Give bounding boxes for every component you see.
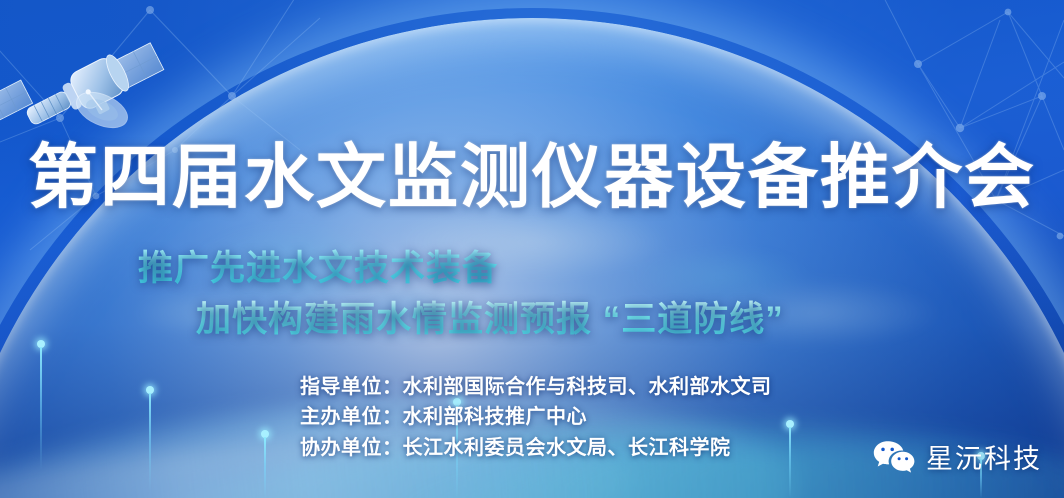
data-beam-marker bbox=[149, 386, 151, 490]
beam-stem bbox=[40, 347, 42, 470]
wechat-icon bbox=[872, 439, 916, 475]
wechat-account-name: 星沅科技 bbox=[926, 437, 1042, 476]
data-beam-marker bbox=[40, 340, 42, 470]
conference-banner: 第四届水文监测仪器设备推介会 推广先进水文技术装备 加快构建雨水情监测预报 “三… bbox=[0, 0, 1064, 498]
beam-stem bbox=[264, 437, 266, 498]
subtitle-line-2: 加快构建雨水情监测预报 “三道防线” bbox=[0, 294, 1064, 345]
organizer-line-host: 主办单位：水利部科技推广中心 bbox=[300, 402, 772, 432]
beam-stem bbox=[149, 393, 151, 490]
organizer-line-coorganizer: 协办单位：长江水利委员会水文局、长江科学院 bbox=[300, 433, 772, 463]
banner-title: 第四届水文监测仪器设备推介会 bbox=[0, 142, 1064, 212]
organizer-list: 指导单位：水利部国际合作与科技司、水利部水文司 主办单位：水利部科技推广中心 协… bbox=[300, 372, 772, 463]
organizer-line-guidance: 指导单位：水利部国际合作与科技司、水利部水文司 bbox=[300, 372, 772, 402]
subtitle-line-1: 推广先进水文技术装备 bbox=[0, 243, 1064, 294]
beam-stem bbox=[789, 427, 791, 498]
data-beam-marker bbox=[789, 420, 791, 498]
banner-subtitle: 推广先进水文技术装备 加快构建雨水情监测预报 “三道防线” bbox=[0, 243, 1064, 345]
data-beam-marker bbox=[264, 430, 266, 498]
wechat-watermark: 星沅科技 bbox=[872, 437, 1042, 476]
